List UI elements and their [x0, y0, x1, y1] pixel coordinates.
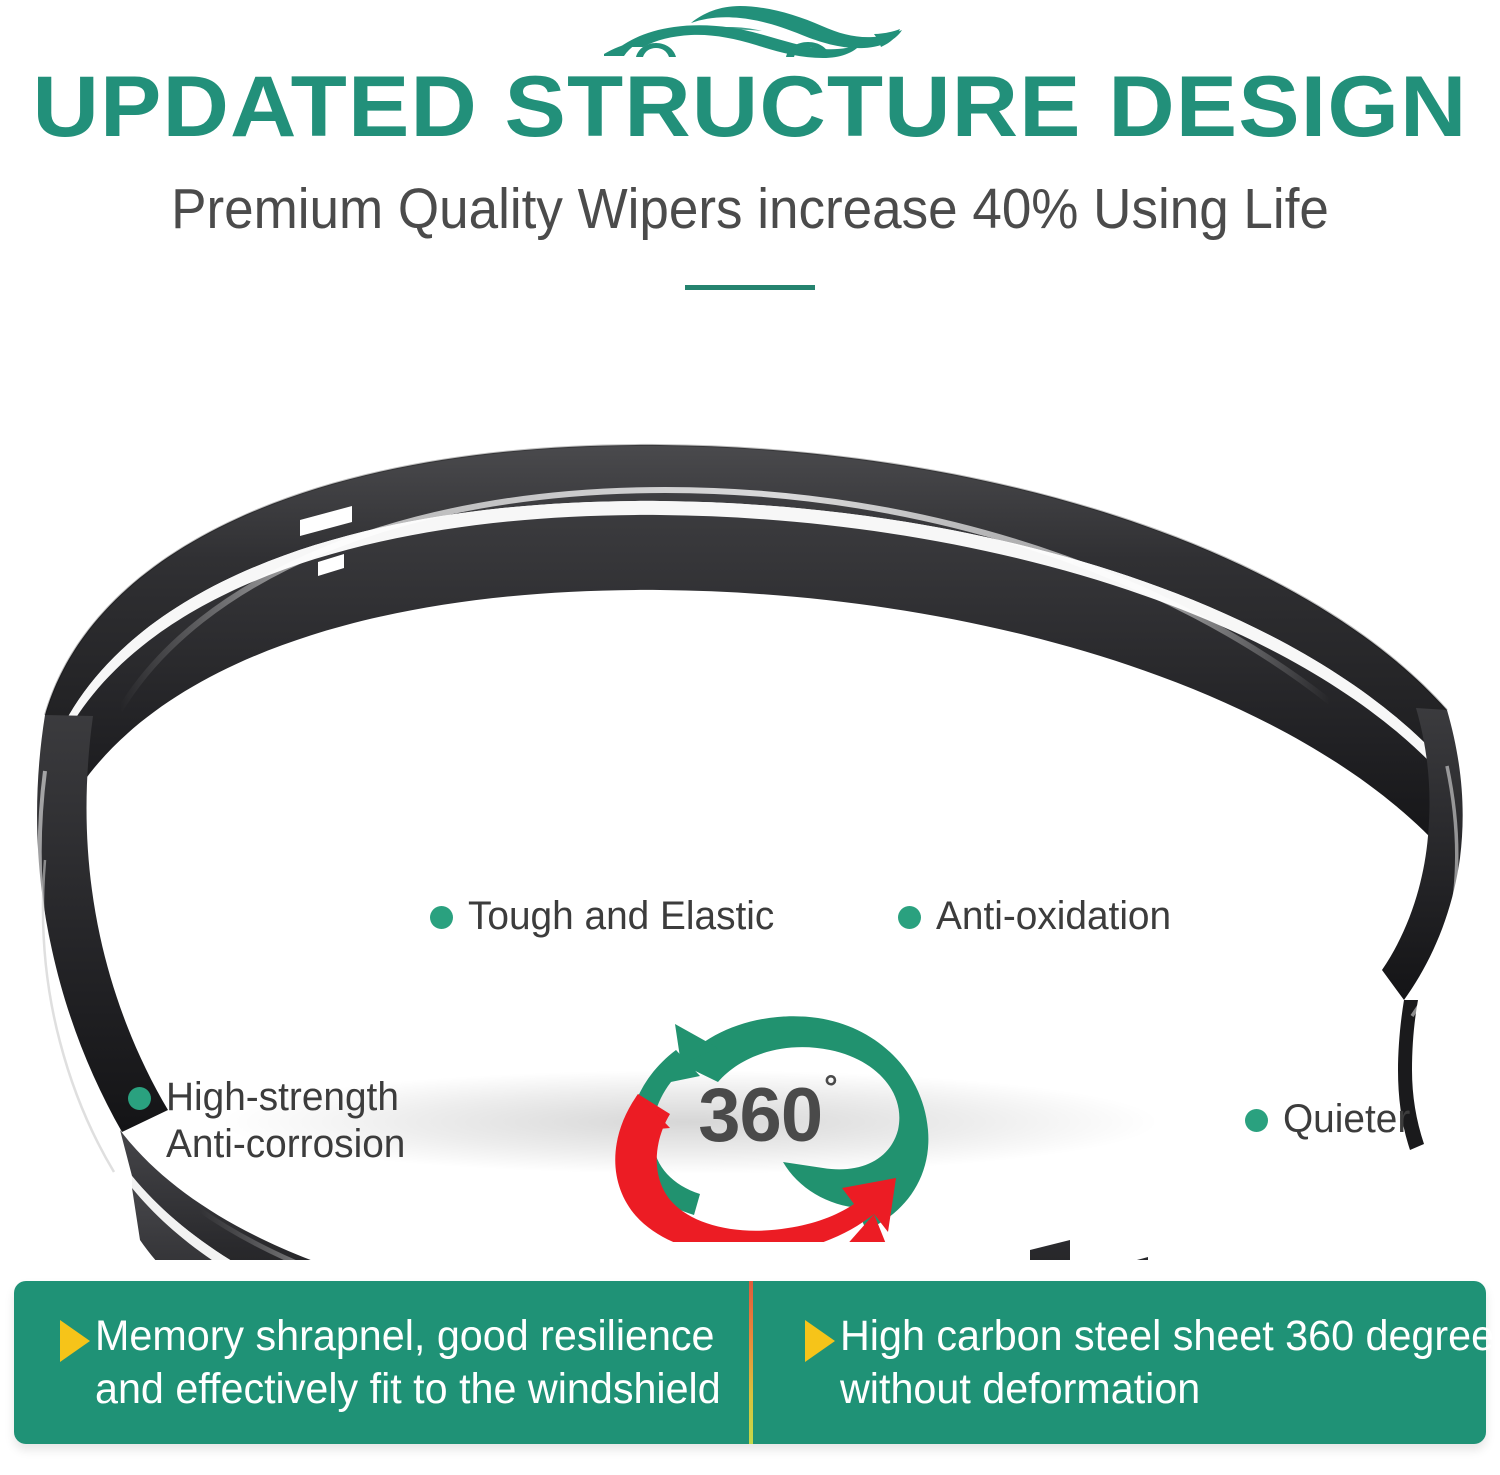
rotation-360-badge: 360 ° — [578, 1002, 968, 1242]
bullet-dot-icon — [898, 906, 921, 929]
banner-item-memory-shrapnel: Memory shrapnel, good resilienceand effe… — [14, 1281, 747, 1444]
feature-label-line2: Anti-corrosion — [166, 1121, 405, 1168]
bottom-feature-banner: Memory shrapnel, good resilienceand effe… — [14, 1281, 1486, 1444]
triangle-bullet-icon — [805, 1320, 835, 1362]
feature-label-line1: High-strength — [166, 1075, 399, 1119]
banner-item-text: Memory shrapnel, good resilienceand effe… — [95, 1310, 721, 1416]
bullet-dot-icon — [1245, 1109, 1268, 1132]
feature-label: High-strengthAnti-corrosion — [166, 1074, 405, 1168]
feature-label: Quieter — [1283, 1096, 1410, 1143]
bullet-dot-icon — [430, 906, 453, 929]
feature-label: Anti-oxidation — [936, 893, 1171, 940]
feature-callout-anti-oxidation: Anti-oxidation — [898, 893, 1178, 940]
banner-item-line2: without deformation — [840, 1363, 1500, 1416]
banner-item-line1: High carbon steel sheet 360 degrees — [840, 1312, 1500, 1360]
bullet-dot-icon — [128, 1087, 151, 1110]
banner-item-high-carbon-steel: High carbon steel sheet 360 degreeswitho… — [747, 1281, 1500, 1444]
product-hero-section: Tough and Elastic Anti-oxidation High-st… — [0, 310, 1500, 1260]
circular-arrows-icon — [578, 1002, 968, 1242]
header-section: UPDATED STRUCTURE DESIGN Premium Quality… — [0, 0, 1500, 310]
banner-item-text: High carbon steel sheet 360 degreeswitho… — [840, 1310, 1500, 1416]
page-title: UPDATED STRUCTURE DESIGN — [0, 62, 1500, 152]
title-underline-rule — [685, 285, 815, 290]
banner-item-line2: and effectively fit to the windshield — [95, 1363, 721, 1416]
banner-item-line1: Memory shrapnel, good resilience — [95, 1312, 715, 1360]
page-subtitle: Premium Quality Wipers increase 40% Usin… — [53, 176, 1448, 242]
feature-callout-quieter: Quieter — [1245, 1096, 1414, 1143]
triangle-bullet-icon — [60, 1320, 90, 1362]
feature-label: Tough and Elastic — [468, 893, 774, 940]
feature-callout-high-strength-anti-corrosion: High-strengthAnti-corrosion — [128, 1074, 413, 1168]
feature-callout-tough-and-elastic: Tough and Elastic — [430, 893, 784, 940]
